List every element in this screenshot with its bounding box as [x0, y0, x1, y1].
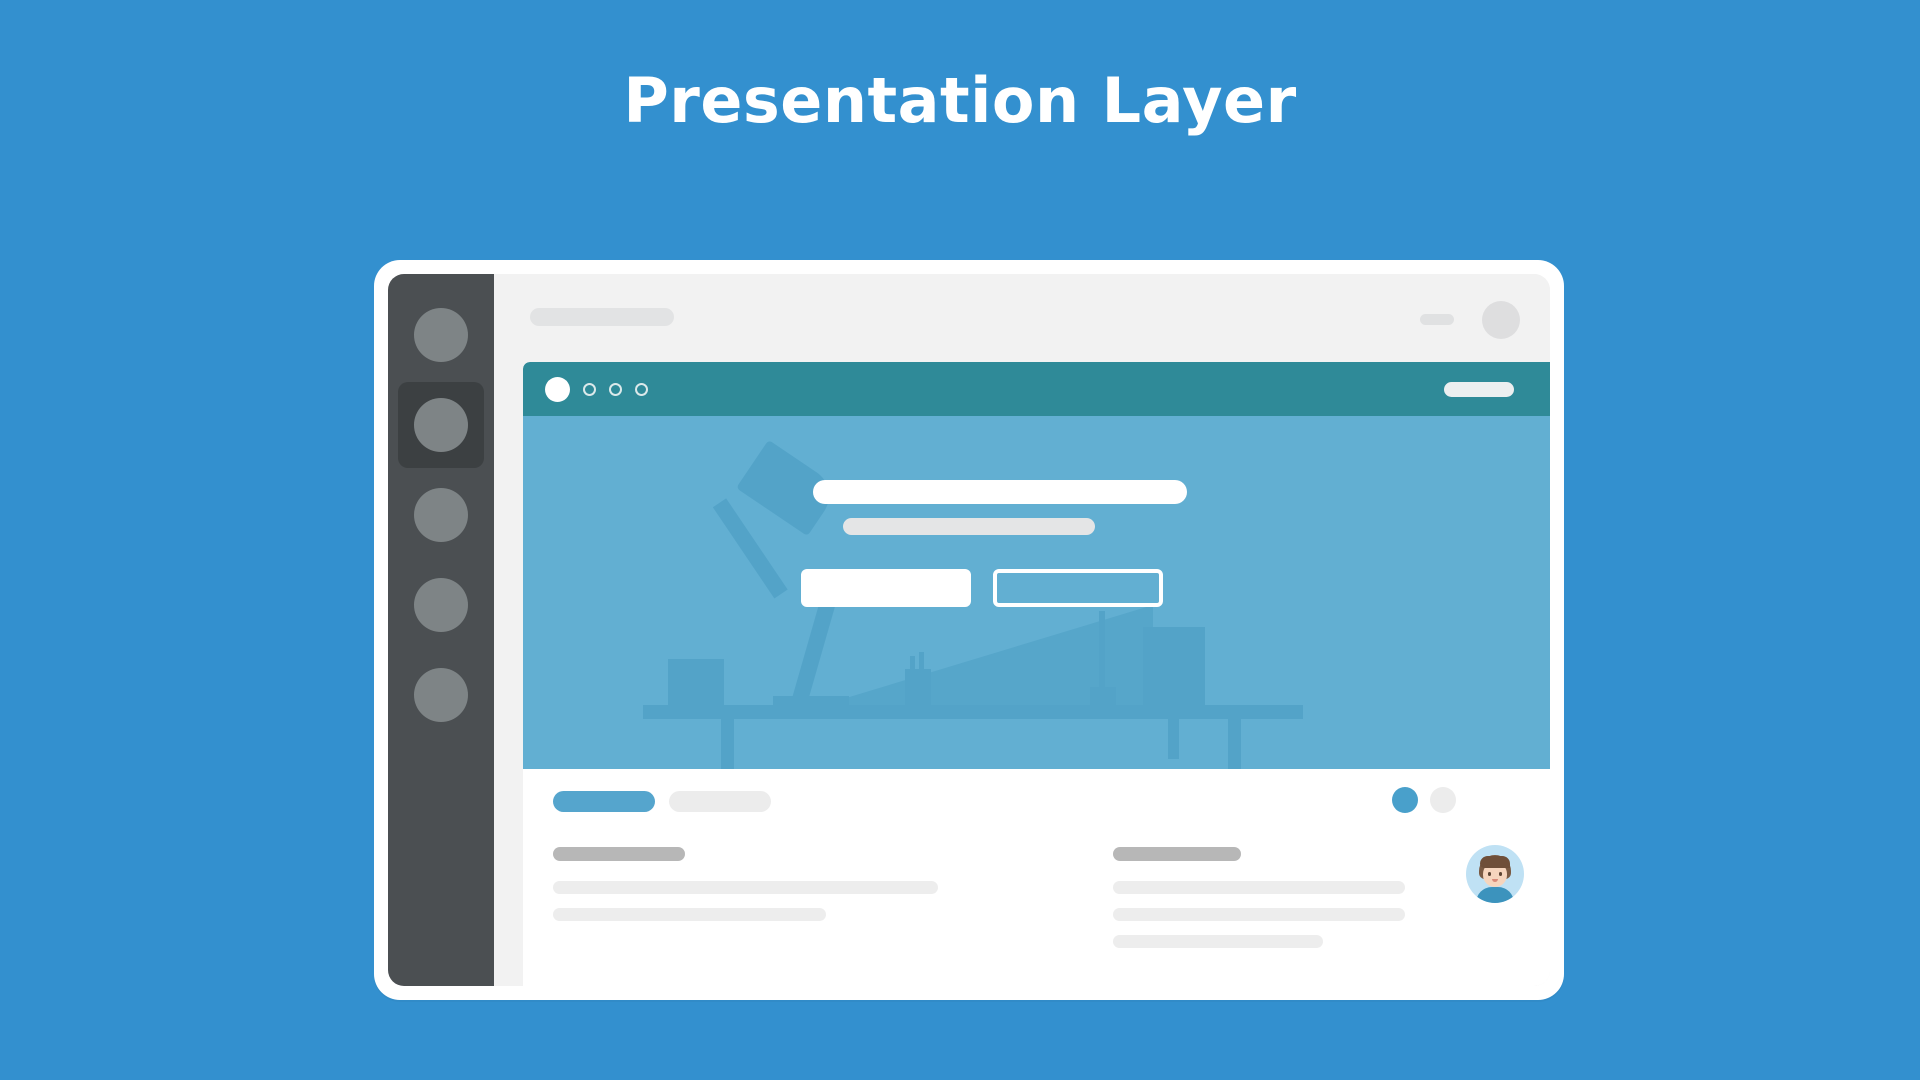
hero-banner — [523, 416, 1550, 769]
illustration-desk-leg — [1228, 717, 1241, 769]
sidebar-nav-icon — [414, 398, 468, 452]
page-title: Presentation Layer — [0, 64, 1920, 137]
hero-content — [801, 480, 1321, 607]
illustration-antenna — [1099, 611, 1105, 689]
illustration-pen-cup — [905, 669, 931, 705]
sidebar-nav-icon — [414, 308, 468, 362]
text-line-heading — [1113, 847, 1241, 861]
browser-home-icon[interactable] — [545, 377, 570, 402]
app-main-area — [494, 274, 1550, 986]
text-line-body — [1113, 881, 1405, 894]
text-line-body — [1113, 935, 1323, 948]
browser-url-bar[interactable] — [1444, 382, 1514, 397]
sidebar-item-3[interactable] — [398, 472, 484, 558]
illustration-antenna-base — [1090, 687, 1116, 705]
browser-dot-icon[interactable] — [635, 383, 648, 396]
illustration-monitor-left — [668, 659, 724, 705]
tab-bar — [553, 791, 771, 812]
right-column — [1113, 847, 1405, 962]
app-sidebar — [388, 274, 494, 986]
pager-dot-1[interactable] — [1392, 787, 1418, 813]
sidebar-nav-icon — [414, 668, 468, 722]
account-avatar[interactable] — [1482, 301, 1520, 339]
illustration-monitor-right — [1143, 627, 1205, 705]
browser-dot-icon[interactable] — [583, 383, 596, 396]
hero-primary-button[interactable] — [801, 569, 971, 607]
text-line-heading — [553, 847, 685, 861]
avatar-eye — [1488, 872, 1491, 876]
pagination-dots — [1392, 787, 1456, 813]
text-line-body — [553, 881, 938, 894]
illustration-desk — [643, 705, 1303, 719]
tab-1[interactable] — [553, 791, 655, 812]
hero-secondary-button[interactable] — [993, 569, 1163, 607]
hero-subline — [843, 518, 1095, 535]
illustration-pen — [910, 656, 915, 674]
browser-window — [523, 362, 1550, 986]
avatar-body — [1476, 887, 1514, 903]
app-topbar — [494, 274, 1550, 362]
hero-headline — [813, 480, 1187, 504]
text-line-body — [553, 908, 826, 921]
illustration-lamp-base — [773, 696, 849, 705]
sidebar-item-1[interactable] — [398, 292, 484, 378]
browser-toolbar — [523, 362, 1550, 416]
search-input[interactable] — [530, 308, 674, 326]
device-screen — [388, 274, 1550, 986]
illustration-pen — [919, 652, 924, 674]
sidebar-item-5[interactable] — [398, 652, 484, 738]
menu-dash-icon[interactable] — [1420, 314, 1454, 325]
sidebar-nav-icon — [414, 578, 468, 632]
tablet-device-frame — [374, 260, 1564, 1000]
sidebar-nav-icon — [414, 488, 468, 542]
hero-button-group — [801, 569, 1321, 607]
content-section — [523, 769, 1550, 983]
text-line-body — [1113, 908, 1405, 921]
sidebar-item-2[interactable] — [398, 382, 484, 468]
browser-dot-icon[interactable] — [609, 383, 622, 396]
avatar-fringe — [1480, 856, 1510, 868]
tab-2[interactable] — [669, 791, 771, 812]
avatar-eye — [1499, 872, 1502, 876]
sidebar-item-4[interactable] — [398, 562, 484, 648]
user-avatar[interactable] — [1466, 845, 1524, 903]
illustration-desk-leg — [721, 717, 734, 769]
pager-dot-2[interactable] — [1430, 787, 1456, 813]
left-column — [553, 847, 1023, 935]
